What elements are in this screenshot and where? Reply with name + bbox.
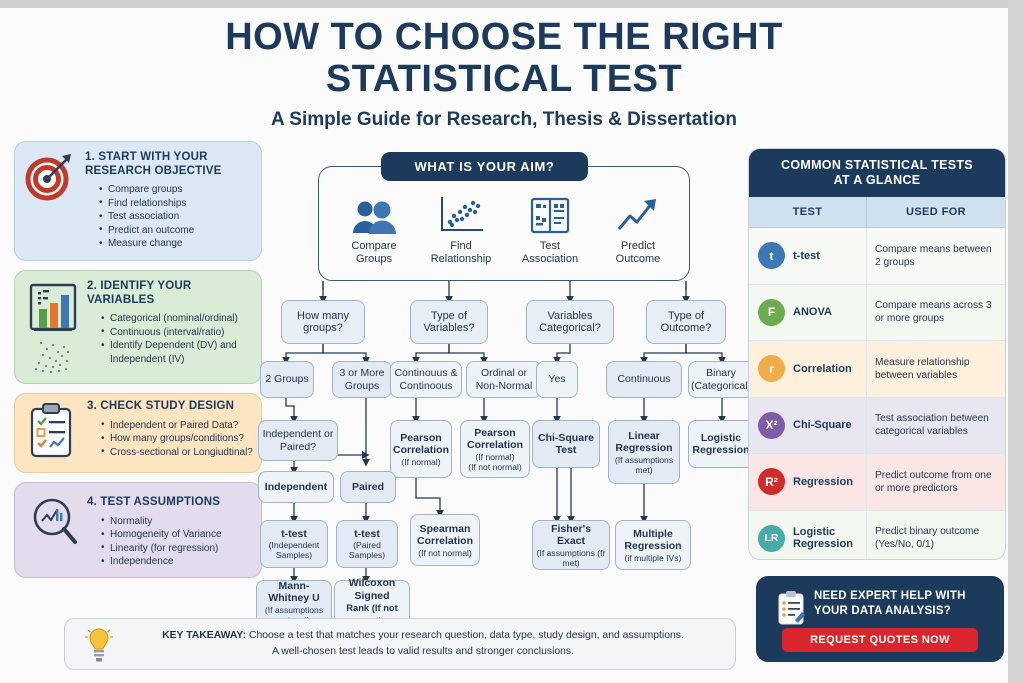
step-card-identify-variables: 2. IDENTIFY YOUR VARIABLES Categorical (… — [14, 270, 262, 384]
page-title-line1: HOW TO CHOOSE THE RIGHT — [225, 16, 783, 58]
step-card-list: Independent or Paired Data? How many gro… — [87, 419, 257, 460]
page-subtitle: A Simple Guide for Research, Thesis & Di… — [0, 109, 1008, 131]
aim-option-predict-outcome[interactable]: PredictOutcome — [592, 192, 684, 266]
cta-headline-line1: NEED EXPERT HELP WITH — [814, 590, 966, 602]
list-item: Homogeneity of Variance — [101, 528, 257, 542]
table-title: COMMON STATISTICAL TESTS AT A GLANCE — [749, 149, 1005, 197]
lightbulb-icon — [83, 625, 115, 670]
cta-panel: NEED EXPERT HELP WITH YOUR DATA ANALYSIS… — [756, 576, 1004, 662]
column-header-test: TEST — [749, 197, 867, 227]
node-spearman-correlation[interactable]: Spearman Correlation(If not normal) — [410, 514, 480, 566]
node-ttest-independent[interactable]: t-test(Independent Samples) — [260, 520, 328, 568]
test-name: Regression — [793, 476, 853, 489]
node-title: Chi-Square Test — [536, 432, 596, 457]
aim-option-find-relationship[interactable]: FindRelationship — [415, 192, 507, 266]
table-title-line1: COMMON STATISTICAL TESTS — [781, 158, 973, 172]
right-border-strip — [1008, 0, 1024, 683]
aim-option-label: CompareGroups — [328, 240, 420, 266]
key-takeaway-label: KEY TAKEAWAY: — [162, 630, 246, 641]
node-note: (Independent Samples) — [264, 540, 324, 560]
page-header: HOW TO CHOOSE THE RIGHT STATISTICAL TEST… — [0, 16, 1008, 131]
list-item: Measure change — [99, 237, 255, 251]
test-badge-icon: r — [758, 355, 785, 382]
table-row[interactable]: t t-test Compare means between 2 groups — [749, 228, 1005, 285]
step-card-list: Categorical (nominal/ordinal) Continuous… — [87, 312, 255, 366]
node-note: (If assumptions (fr met) — [536, 548, 606, 568]
clipboard-checklist-icon — [27, 402, 75, 465]
common-tests-table: COMMON STATISTICAL TESTS AT A GLANCE TES… — [748, 148, 1006, 560]
column-header-used-for: USED FOR — [867, 197, 1005, 227]
node-note-2: (If not normal) — [464, 462, 526, 472]
cta-headline-line2: YOUR DATA ANALYSIS? — [814, 605, 951, 617]
list-item: Continuous (interval/ratio) — [101, 326, 255, 340]
node-how-many-groups[interactable]: How many groups? — [281, 300, 365, 344]
node-title: Paired — [352, 481, 384, 494]
node-multiple-regression[interactable]: Multiple Regression(if multiple IVs) — [615, 520, 691, 570]
aim-option-label: FindRelationship — [415, 240, 507, 266]
step-card-title: 2. IDENTIFY YOUR VARIABLES — [87, 280, 255, 307]
step-card-research-objective: 1. START WITH YOUR RESEARCH OBJECTIVE Co… — [14, 141, 262, 261]
list-item: Identify Dependent (DV) and Independent … — [101, 339, 255, 366]
list-item: How many groups/conditions? — [101, 432, 257, 446]
test-badge-icon: LR — [758, 525, 785, 552]
table-cell-test: t t-test — [749, 228, 867, 284]
contingency-table-icon — [504, 192, 596, 236]
node-title: Independent — [265, 481, 327, 494]
node-pearson-correlation-2[interactable]: Pearson Correlation(If normal)(If not no… — [460, 420, 530, 478]
scatter-plot-icon — [415, 192, 507, 236]
list-item: Independence — [101, 555, 257, 569]
aim-option-label: PredictOutcome — [592, 240, 684, 266]
table-cell-used-for: Compare means between 2 groups — [867, 228, 1005, 284]
table-cell-test: R² Regression — [749, 454, 867, 510]
node-paired[interactable]: Paired — [340, 471, 396, 503]
key-takeaway-line2: A well-chosen test leads to valid result… — [272, 646, 574, 657]
top-border-strip — [0, 0, 1024, 8]
step-card-study-design: 3. CHECK STUDY DESIGN Independent or Pai… — [14, 393, 262, 473]
list-item: Cross-sectional or Longiudtinal? — [101, 446, 257, 460]
node-ordinal-or-non-normal[interactable]: Ordinal or Non-Normal — [466, 361, 542, 398]
step-card-title: 3. CHECK STUDY DESIGN — [87, 400, 257, 414]
node-title: Linear Regression — [615, 430, 672, 455]
target-icon — [24, 152, 74, 207]
step-card-list: Normality Homogeneity of Variance Linear… — [87, 515, 257, 569]
node-independent-or-paired[interactable]: Independent or Paired? — [258, 420, 338, 461]
node-note: (If assumptions met) — [612, 455, 676, 475]
node-title: Fisher's Exact — [551, 523, 591, 548]
node-title: Multiple Regression — [624, 528, 681, 553]
test-badge-icon: t — [758, 242, 785, 269]
node-3-or-more-groups[interactable]: 3 or More Groups — [332, 361, 392, 398]
step-card-title: 4. TEST ASSUMPTIONS — [87, 496, 257, 510]
key-takeaway-text: KEY TAKEAWAY: Choose a test that matches… — [121, 628, 725, 660]
page-title: HOW TO CHOOSE THE RIGHT STATISTICAL TEST — [0, 16, 1008, 100]
table-cell-used-for: Predict binary outcome (Yes/No, 0/1) — [867, 511, 1005, 561]
test-name: ANOVA — [793, 306, 832, 319]
table-row[interactable]: X² Chi-Square Test association between c… — [749, 398, 1005, 455]
node-2-groups[interactable]: 2 Groups — [260, 361, 314, 398]
page-title-line2: STATISTICAL TEST — [326, 58, 682, 100]
node-title: Pearson Correlation — [467, 427, 523, 452]
node-note: (If normal) — [464, 452, 526, 462]
node-fishers-exact[interactable]: Fisher's Exact(If assumptions (fr met) — [532, 520, 610, 570]
node-ttest-paired[interactable]: t-test(Paired Samples) — [336, 520, 398, 568]
step-card-title: 1. START WITH YOUR RESEARCH OBJECTIVE — [85, 151, 255, 178]
table-row[interactable]: F ANOVA Compare means across 3 or more g… — [749, 285, 1005, 342]
node-title: t-test — [354, 528, 380, 540]
node-continuous-continuous[interactable]: Continouus & Continoous — [390, 361, 462, 398]
list-item: Normality — [101, 515, 257, 529]
test-badge-icon: F — [758, 299, 785, 326]
node-title: Mann-Whitney U — [268, 580, 319, 605]
table-cell-used-for: Measure relationship between variables — [867, 341, 1005, 397]
table-cell-used-for: Compare means across 3 or more groups — [867, 285, 1005, 341]
table-cell-used-for: Predict outcome from one or more predict… — [867, 454, 1005, 510]
list-item: Linearity (for regression) — [101, 542, 257, 556]
table-cell-test: F ANOVA — [749, 285, 867, 341]
node-title: Logistic Regression — [692, 432, 750, 457]
node-chi-square-test[interactable]: Chi-Square Test — [532, 420, 600, 468]
list-item: Compare groups — [99, 183, 255, 197]
clipboard-pen-icon — [776, 590, 806, 631]
table-cell-used-for: Test association between categorical var… — [867, 398, 1005, 454]
node-type-of-variables[interactable]: Type of Variables? — [410, 300, 488, 344]
node-type-of-outcome[interactable]: Type of Outcome? — [646, 300, 726, 344]
table-cell-test: r Correlation — [749, 341, 867, 397]
node-note: (if multiple IVs) — [619, 553, 687, 563]
test-badge-icon: X² — [758, 412, 785, 439]
node-yes[interactable]: Yes — [536, 361, 578, 398]
list-item: Categorical (nominal/ordinal) — [101, 312, 255, 326]
table-row[interactable]: R² Regression Predict outcome from one o… — [749, 454, 1005, 511]
bar-chart-icon — [27, 279, 79, 382]
node-note: (If not normal) — [414, 548, 476, 558]
node-variables-categorical[interactable]: Variables Categorical? — [526, 300, 614, 344]
node-title: t-test — [281, 528, 307, 540]
table-header-row: TEST USED FOR — [749, 197, 1005, 228]
node-note: (Paired Samples) — [340, 540, 394, 560]
step-card-list: Compare groups Find relationships Test a… — [85, 183, 255, 251]
test-name: t-test — [793, 250, 820, 263]
aim-option-compare-groups[interactable]: CompareGroups — [328, 192, 420, 266]
table-cell-test: X² Chi-Square — [749, 398, 867, 454]
node-independent[interactable]: Independent — [258, 471, 334, 503]
node-logistic-regression[interactable]: Logistic Regression — [688, 420, 754, 468]
trend-arrow-icon — [592, 192, 684, 236]
table-row[interactable]: r Correlation Measure relationship betwe… — [749, 341, 1005, 398]
list-item: Test association — [99, 210, 255, 224]
table-title-line2: AT A GLANCE — [834, 173, 921, 187]
test-name: Logistic Regression — [793, 526, 866, 551]
infographic-page: HOW TO CHOOSE THE RIGHT STATISTICAL TEST… — [0, 8, 1008, 683]
list-item: Predict an outcome — [99, 224, 255, 238]
list-item: Find relationships — [99, 197, 255, 211]
people-icon — [328, 192, 420, 236]
node-note: (If normal) — [393, 457, 449, 467]
node-title: Pearson Correlation — [393, 432, 449, 457]
list-item: Independent or Paired Data? — [101, 419, 257, 433]
aim-option-test-association[interactable]: TestAssociation — [504, 192, 596, 266]
request-quotes-button[interactable]: REQUEST QUOTES NOW — [782, 628, 978, 652]
node-linear-regression[interactable]: Linear Regression(If assumptions met) — [608, 420, 680, 484]
node-pearson-correlation-1[interactable]: Pearson Correlation(If normal) — [390, 420, 452, 478]
test-name: Chi-Square — [793, 419, 852, 432]
table-row[interactable]: LR Logistic Regression Predict binary ou… — [749, 511, 1005, 561]
test-name: Correlation — [793, 363, 852, 376]
key-takeaway-line1: Choose a test that matches your research… — [249, 630, 684, 641]
aim-panel-title: WHAT IS YOUR AIM? — [381, 152, 588, 181]
cta-headline: NEED EXPERT HELP WITH YOUR DATA ANALYSIS… — [814, 589, 994, 618]
decision-flowchart: WHAT IS YOUR AIM? CompareGroups — [270, 148, 740, 610]
magnifier-chart-icon — [29, 495, 79, 555]
key-takeaway-banner: KEY TAKEAWAY: Choose a test that matches… — [64, 618, 736, 670]
node-continuous[interactable]: Continuous — [606, 361, 682, 398]
aim-option-label: TestAssociation — [504, 240, 596, 266]
step-card-test-assumptions: 4. TEST ASSUMPTIONS Normality Homogeneit… — [14, 482, 262, 578]
node-title: Spearman Correlation — [417, 523, 473, 548]
node-binary-categorical[interactable]: Binary (Categorical) — [688, 361, 754, 398]
table-cell-test: LR Logistic Regression — [749, 511, 867, 561]
node-title: Wilcoxon Signed — [349, 577, 396, 602]
test-badge-icon: R² — [758, 468, 785, 495]
